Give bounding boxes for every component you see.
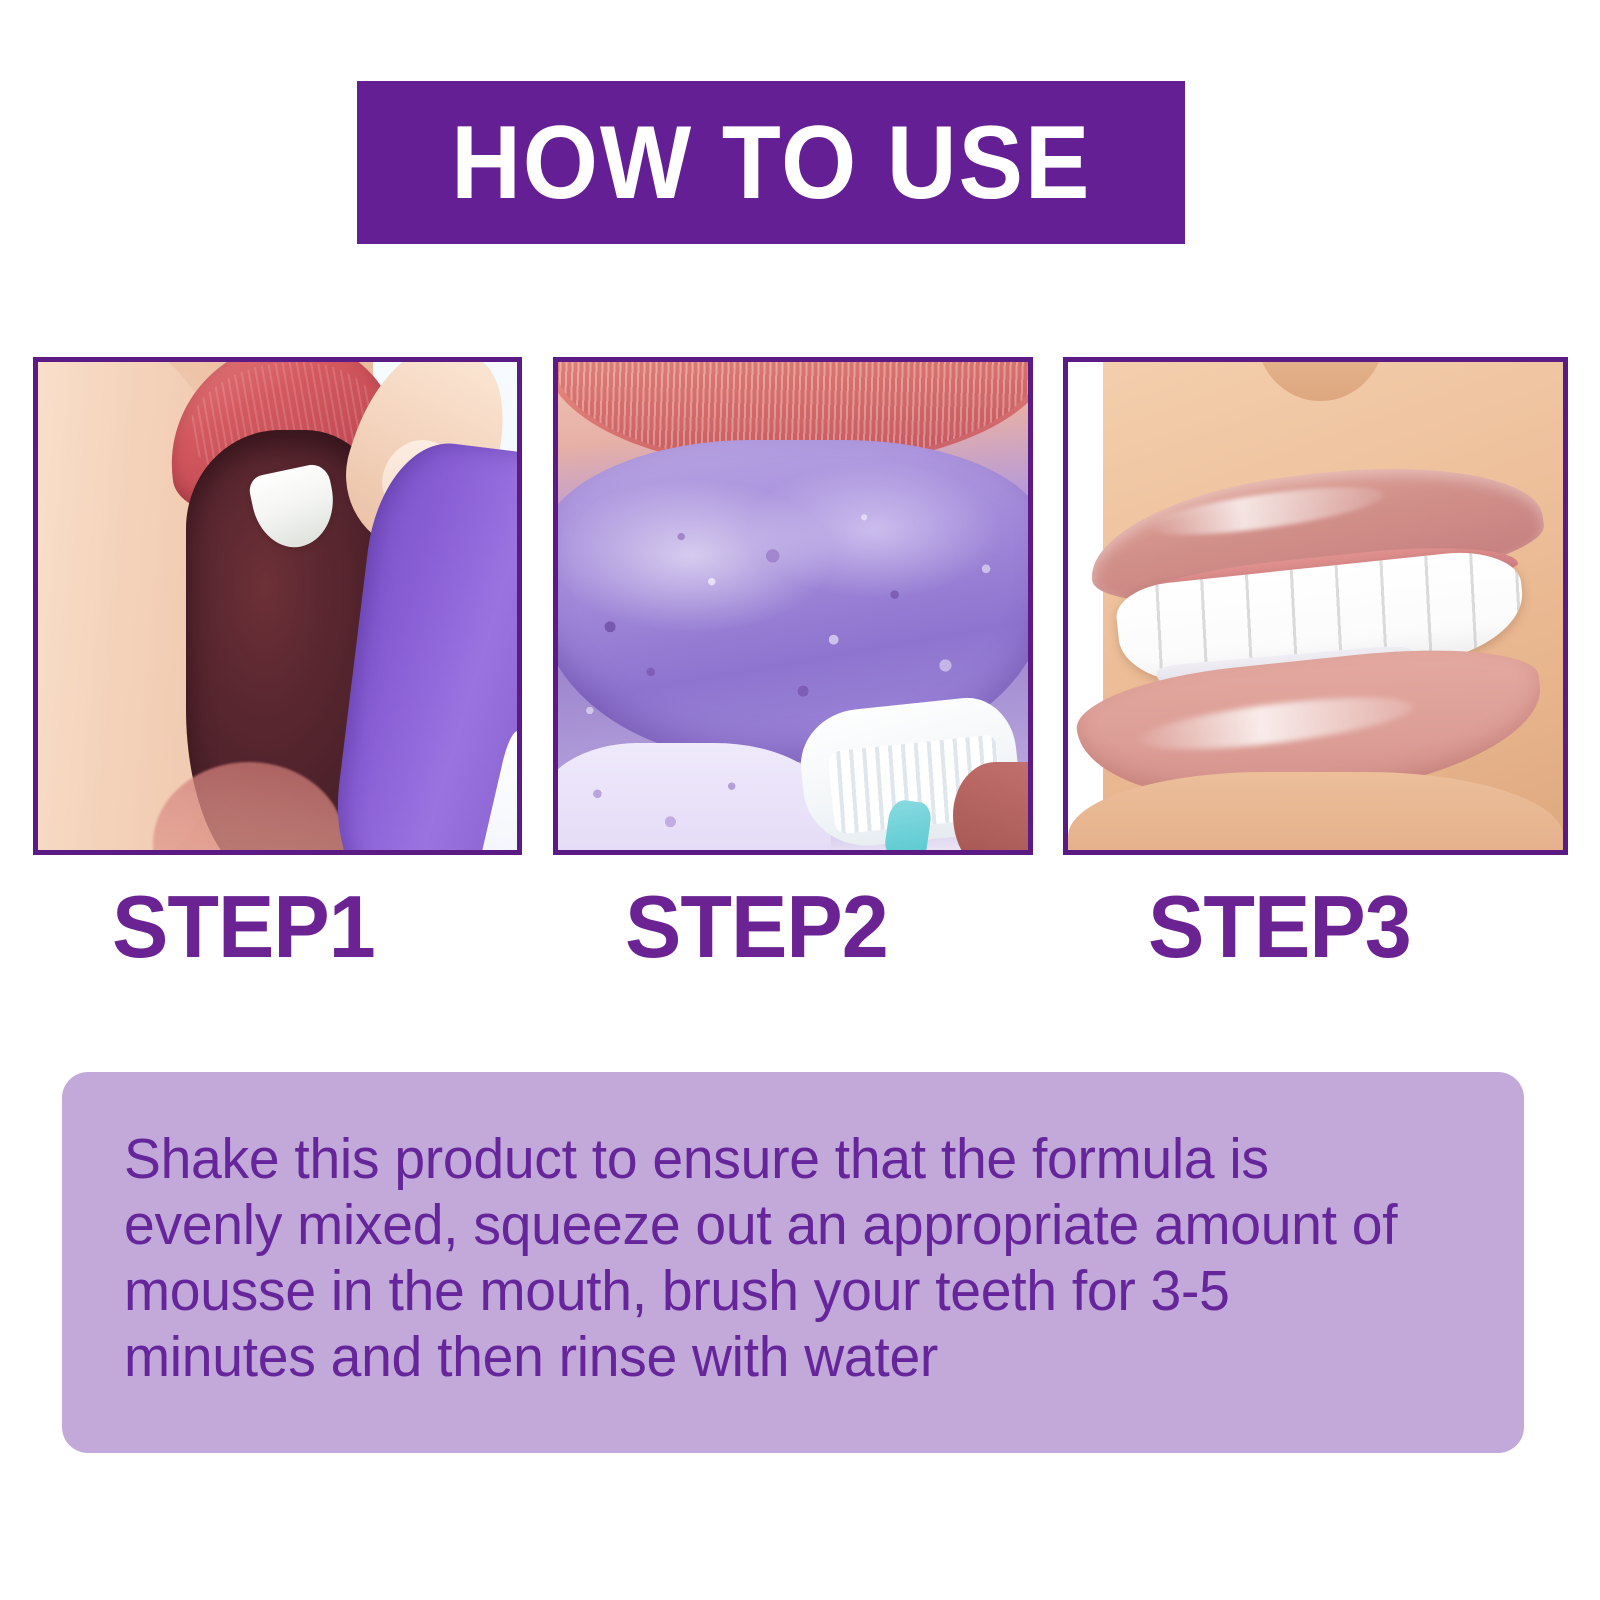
step-1-image-frame [33,357,522,855]
nose-shape [1256,362,1385,401]
step-2-photo-foaming-mousse [558,362,1028,850]
step-1-label: STEP1 [112,872,375,982]
step-2-image-frame [553,357,1033,855]
instructions-text: Shake this product to ensure that the fo… [124,1126,1426,1390]
page-title: HOW TO USE [451,111,1091,215]
bottle-label-highlight [476,730,517,850]
how-to-use-banner: HOW TO USE [357,81,1185,244]
instructions-panel: Shake this product to ensure that the fo… [62,1072,1524,1453]
step-3-image-frame [1063,357,1568,855]
step-2-label: STEP2 [625,872,888,982]
step-3-label: STEP3 [1148,872,1411,982]
step-labels-row: STEP1 STEP2 STEP3 [0,872,1600,982]
lower-foam-shape [558,743,831,850]
step-1-photo-mousse-application [38,362,517,850]
step-3-photo-white-smile [1068,362,1563,850]
photo-background [1068,362,1103,850]
step-images-row [0,357,1600,855]
